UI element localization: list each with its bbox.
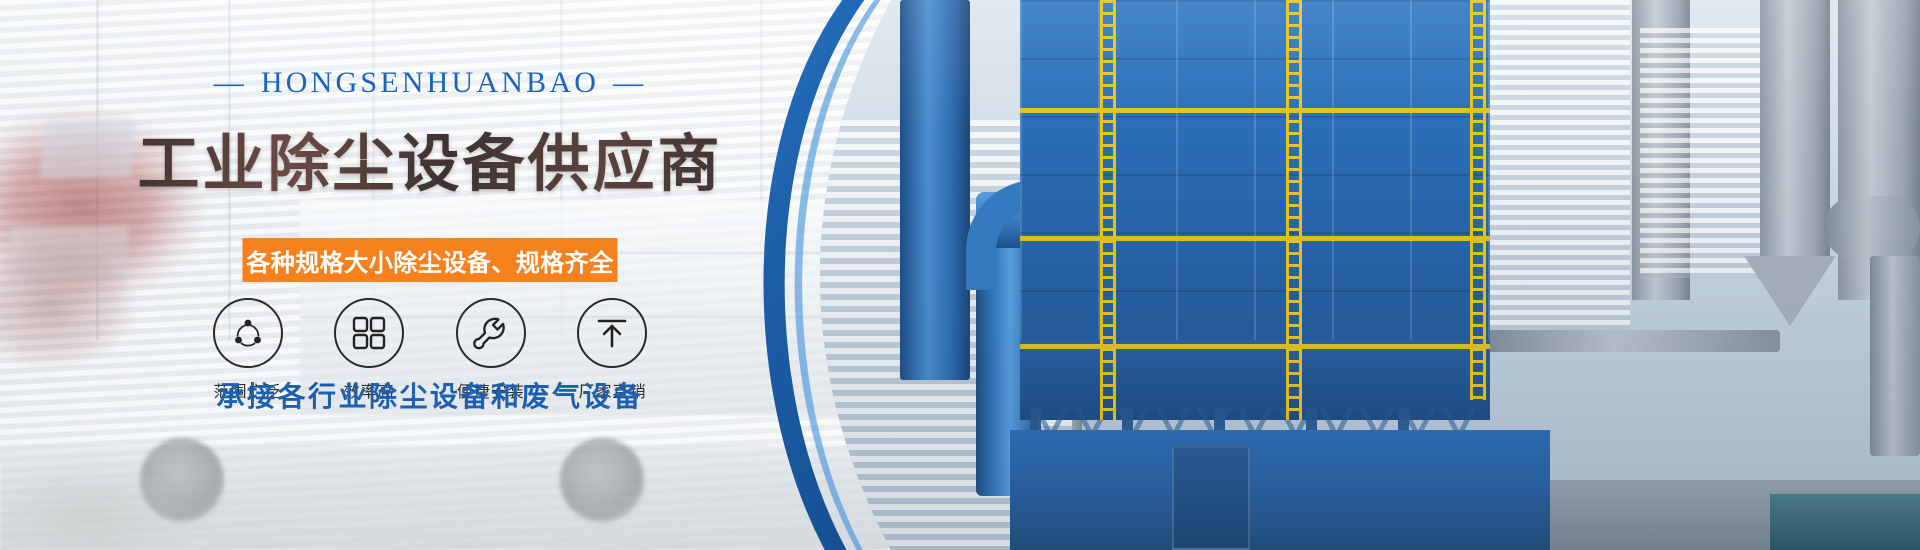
subtitle-orange-banner: 各种规格大小除尘设备、规格齐全 xyxy=(243,238,618,282)
hero-tagline: 承接各行业除尘设备和废气设备 xyxy=(0,375,860,415)
page-title: 工业除尘设备供应商 xyxy=(0,113,860,203)
dust-collector-plant-photo xyxy=(780,0,1920,550)
photo-tone-overlay xyxy=(780,0,1920,550)
dash-left: — xyxy=(214,66,247,100)
grid-squares-icon xyxy=(334,298,404,368)
brand-pinyin: —HONGSENHUANBAO— xyxy=(0,66,860,100)
subtitle-text: 各种规格大小除尘设备、规格齐全 xyxy=(246,243,614,278)
brand-pinyin-text: HONGSENHUANBAO xyxy=(261,66,599,99)
share-nodes-icon xyxy=(213,298,283,368)
hero-content: —HONGSENHUANBAO— 工业除尘设备供应商 各种规格大小除尘设备、规格… xyxy=(0,0,860,550)
dash-right: — xyxy=(613,66,646,100)
arrow-up-bar-icon xyxy=(577,298,647,368)
hero-banner: —HONGSENHUANBAO— 工业除尘设备供应商 各种规格大小除尘设备、规格… xyxy=(0,0,1920,550)
wrench-icon xyxy=(456,298,526,368)
